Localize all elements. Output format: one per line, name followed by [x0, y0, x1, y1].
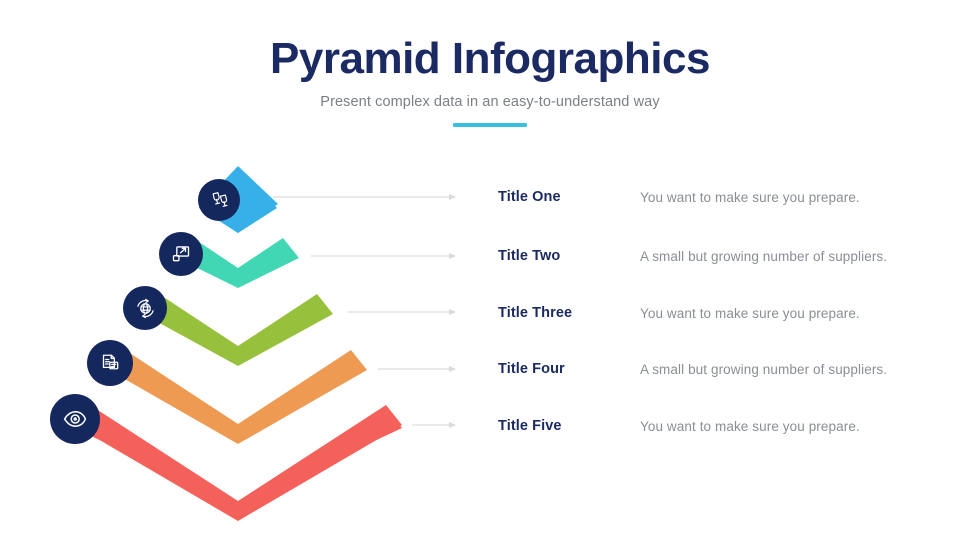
- detail-row-4[interactable]: Title Four A small but growing number of…: [498, 358, 968, 380]
- level-1-icon-badge[interactable]: [198, 179, 240, 221]
- row-title-2: Title Two: [498, 248, 640, 264]
- globe-refresh-icon: [135, 298, 156, 319]
- documents-copy-icon: [100, 353, 121, 374]
- detail-row-3[interactable]: Title Three You want to make sure you pr…: [498, 302, 968, 324]
- row-description-1: You want to make sure you prepare.: [640, 190, 860, 205]
- pyramid-level-3-chevron[interactable]: [143, 294, 333, 366]
- row-description-5: You want to make sure you prepare.: [640, 419, 860, 434]
- row-title-3: Title Three: [498, 305, 640, 321]
- pyramid-level-5-chevron[interactable]: [74, 405, 402, 521]
- page-subtitle: Present complex data in an easy-to-under…: [0, 94, 980, 110]
- level-5-icon-badge[interactable]: [50, 394, 100, 444]
- row-description-3: You want to make sure you prepare.: [640, 306, 860, 321]
- eye-icon: [63, 407, 87, 431]
- detail-row-5[interactable]: Title Five You want to make sure you pre…: [498, 415, 968, 437]
- slide-canvas: Pyramid Infographics Present complex dat…: [0, 0, 980, 551]
- row-description-4: A small but growing number of suppliers.: [640, 362, 887, 377]
- level-3-icon-badge[interactable]: [123, 286, 167, 330]
- header: Pyramid Infographics Present complex dat…: [0, 36, 980, 127]
- detail-row-1[interactable]: Title One You want to make sure you prep…: [498, 186, 968, 208]
- cheers-glasses-icon: [210, 191, 229, 210]
- detail-row-2[interactable]: Title Two A small but growing number of …: [498, 245, 968, 267]
- row-title-4: Title Four: [498, 361, 640, 377]
- row-description-2: A small but growing number of suppliers.: [640, 249, 887, 264]
- accent-underline-bar: [453, 123, 527, 127]
- page-title: Pyramid Infographics: [0, 36, 980, 82]
- row-title-1: Title One: [498, 189, 640, 205]
- screen-export-icon: [171, 244, 191, 264]
- row-title-5: Title Five: [498, 418, 640, 434]
- pyramid-graphic: [40, 160, 460, 540]
- pyramid-level-5-shape[interactable]: [74, 408, 402, 505]
- level-4-icon-badge[interactable]: [87, 340, 133, 386]
- level-2-icon-badge[interactable]: [159, 232, 203, 276]
